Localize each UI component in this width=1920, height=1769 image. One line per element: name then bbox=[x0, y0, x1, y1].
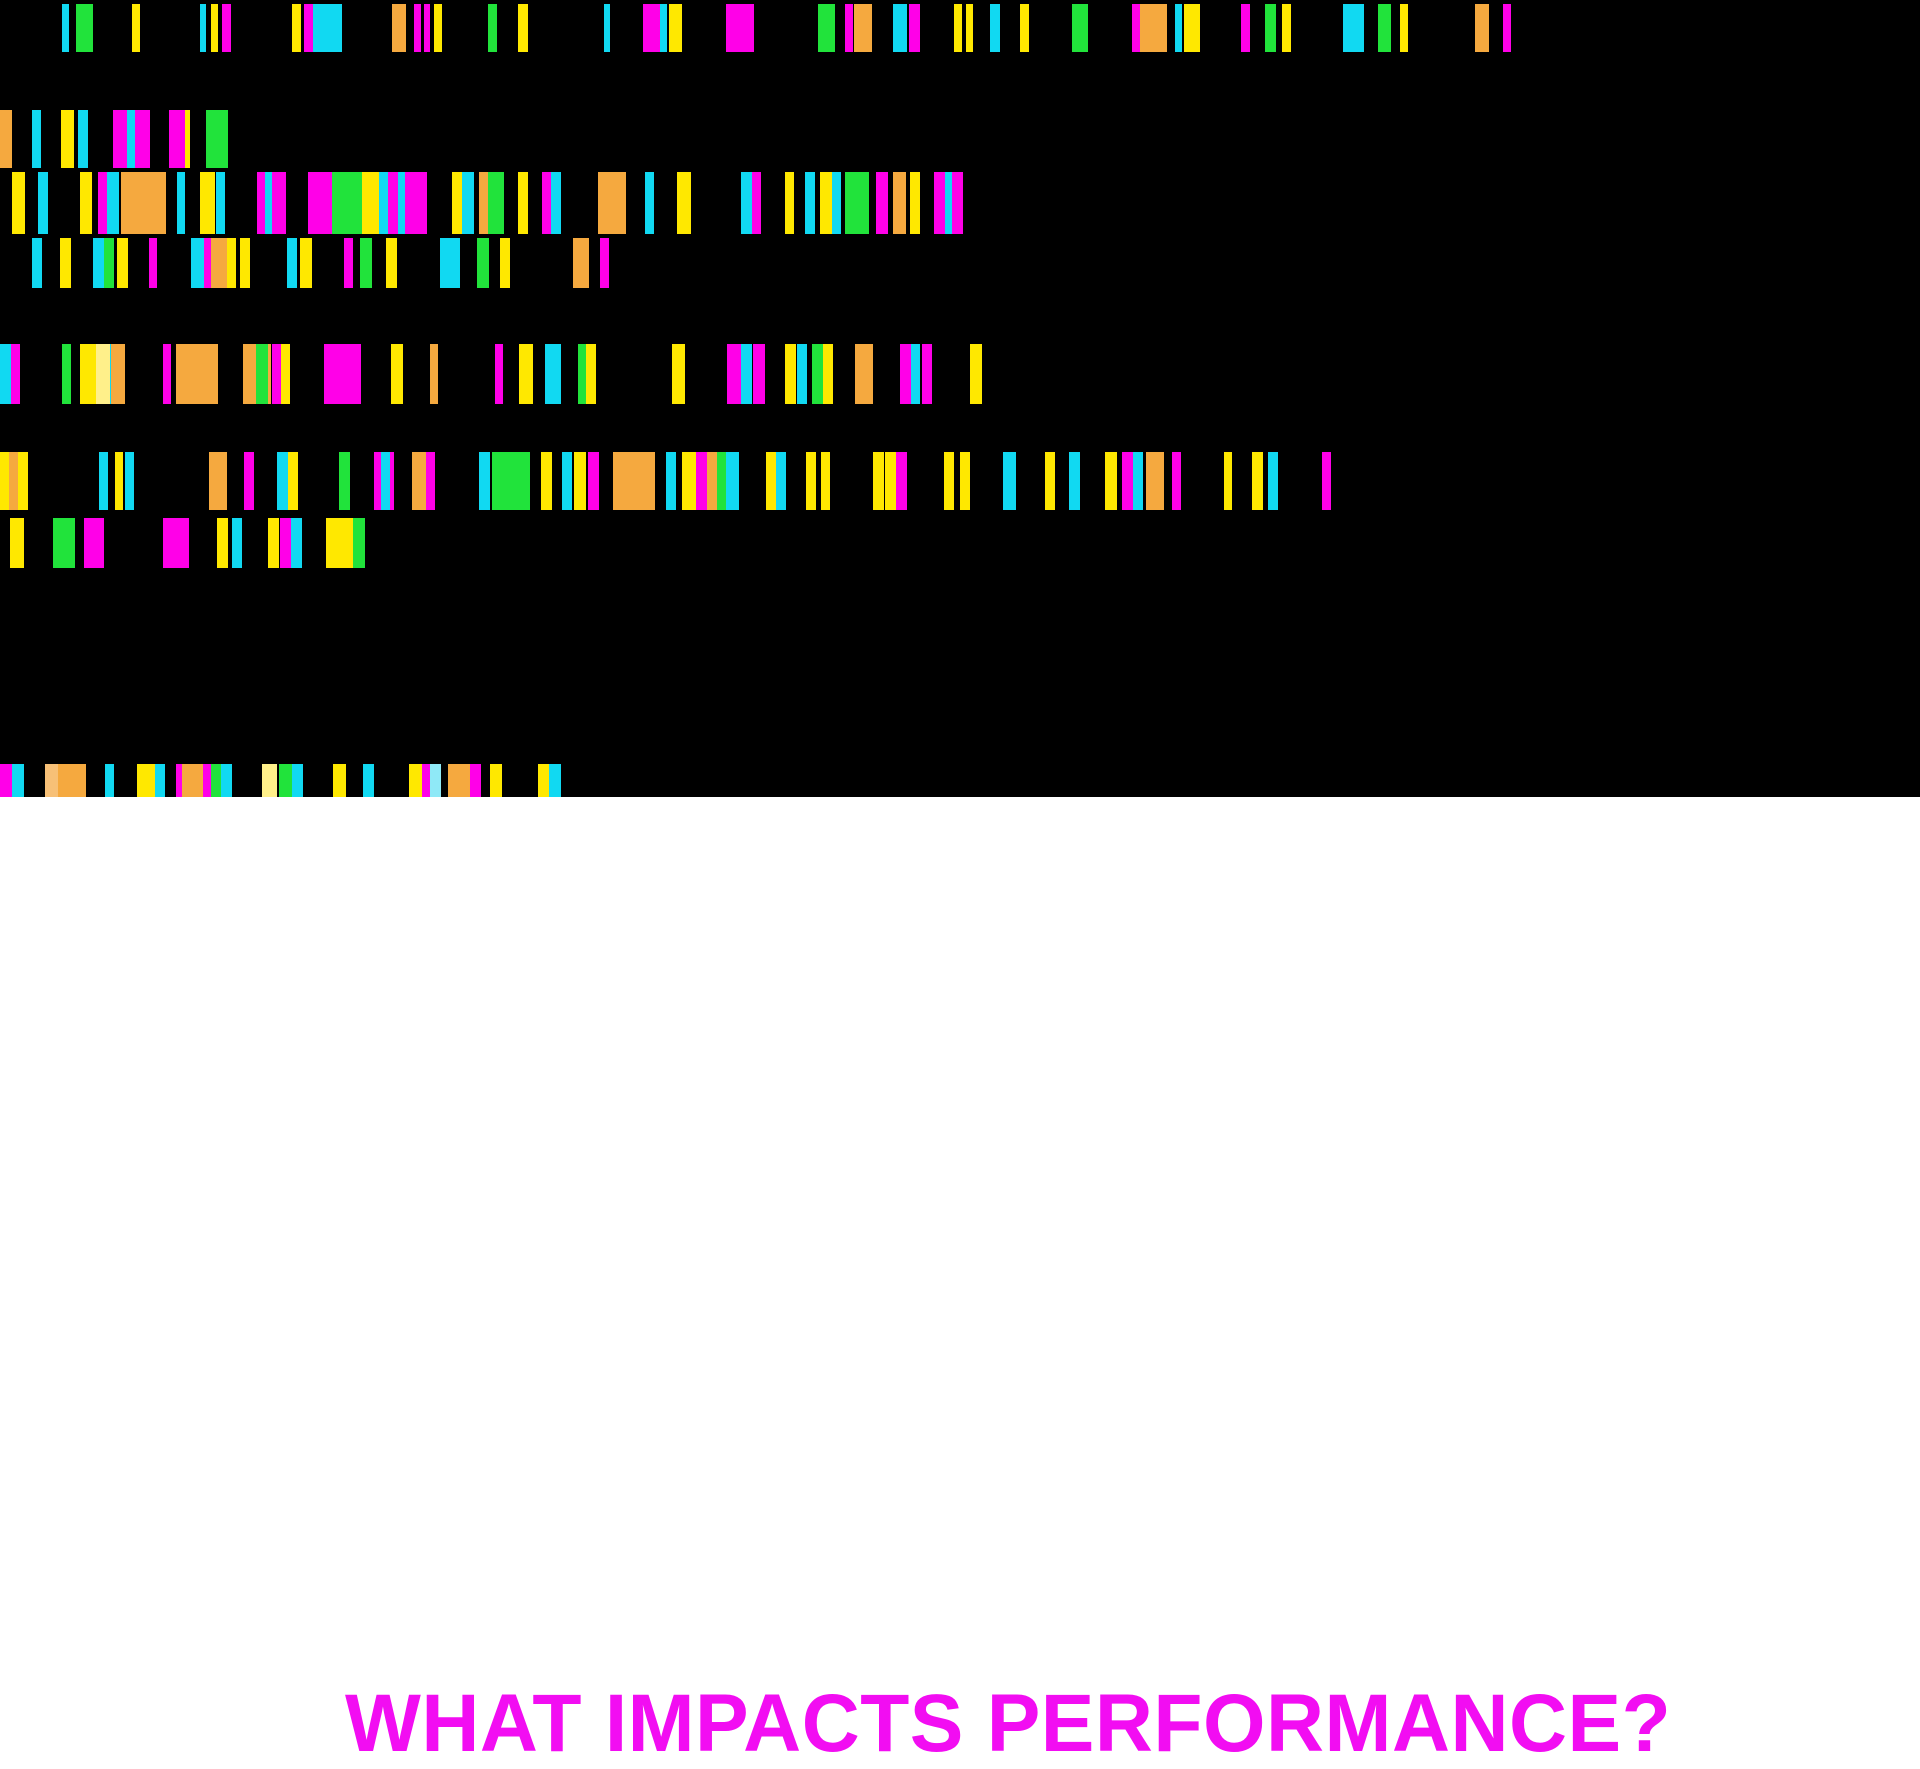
bar-segment bbox=[217, 518, 228, 568]
bar-segment bbox=[209, 452, 227, 510]
bar-segment bbox=[660, 4, 667, 52]
bar-segment bbox=[99, 452, 108, 510]
bar-segment bbox=[820, 172, 832, 234]
bar-segment bbox=[60, 238, 71, 288]
bar-segment bbox=[333, 764, 346, 797]
bar-segment bbox=[135, 110, 150, 168]
bar-segment bbox=[707, 452, 717, 510]
bar-segment bbox=[177, 172, 185, 234]
bar-segment bbox=[785, 344, 796, 404]
bar-segment bbox=[845, 4, 853, 52]
bar-segment bbox=[726, 4, 754, 52]
bar-segment bbox=[324, 344, 361, 404]
bar-segment bbox=[1322, 452, 1331, 510]
bar-segment bbox=[424, 4, 430, 52]
bar-segment bbox=[287, 238, 297, 288]
bar-segment bbox=[392, 4, 406, 52]
bar-segment bbox=[344, 238, 353, 288]
bar-segment bbox=[386, 238, 397, 288]
bar-segment bbox=[272, 172, 286, 234]
bar-segment bbox=[677, 172, 691, 234]
bar-segment bbox=[113, 110, 127, 168]
bar-segment bbox=[495, 344, 503, 404]
bar-segment bbox=[823, 344, 833, 404]
bar-segment bbox=[970, 344, 982, 404]
bar-row bbox=[0, 172, 1920, 234]
bar-segment bbox=[910, 172, 920, 234]
bar-segment bbox=[1133, 452, 1143, 510]
bar-row bbox=[0, 238, 1920, 288]
bar-segment bbox=[96, 344, 110, 404]
bar-segment bbox=[132, 4, 140, 52]
bar-segment bbox=[53, 518, 75, 568]
bar-segment bbox=[1146, 452, 1164, 510]
bar-segment bbox=[549, 764, 561, 797]
bar-segment bbox=[32, 110, 41, 168]
bar-segment bbox=[470, 764, 481, 797]
bar-segment bbox=[909, 4, 920, 52]
bar-segment bbox=[440, 238, 460, 288]
bar-segment bbox=[600, 238, 609, 288]
bar-segment bbox=[538, 764, 549, 797]
bar-segment bbox=[944, 452, 954, 510]
slide-root: WHAT IMPACTS PERFORMANCE? bbox=[0, 0, 1920, 1080]
bar-segment bbox=[353, 518, 365, 568]
bar-segment bbox=[300, 238, 312, 288]
bar-segment bbox=[222, 4, 231, 52]
bar-segment bbox=[873, 452, 884, 510]
bar-segment bbox=[381, 452, 390, 510]
bar-segment bbox=[896, 452, 907, 510]
bar-segment bbox=[855, 344, 873, 404]
bar-segment bbox=[845, 172, 869, 234]
bar-segment bbox=[288, 452, 298, 510]
bar-segment bbox=[545, 344, 561, 404]
bar-row bbox=[0, 110, 1920, 168]
bar-segment bbox=[115, 452, 123, 510]
bar-segment bbox=[574, 452, 586, 510]
bar-segment bbox=[666, 452, 676, 510]
bar-segment bbox=[405, 172, 427, 234]
bar-segment bbox=[38, 172, 48, 234]
bar-segment bbox=[221, 764, 232, 797]
bar-segment bbox=[885, 452, 896, 510]
bar-segment bbox=[12, 764, 24, 797]
bar-row bbox=[0, 764, 1920, 797]
bar-segment bbox=[1184, 4, 1200, 52]
bar-segment bbox=[805, 172, 815, 234]
bar-segment bbox=[104, 238, 114, 288]
bar-segment bbox=[244, 452, 254, 510]
bar-segment bbox=[966, 4, 973, 52]
bar-segment bbox=[211, 238, 227, 288]
bar-segment bbox=[232, 518, 242, 568]
bar-segment bbox=[332, 172, 364, 234]
bar-segment bbox=[117, 238, 128, 288]
bar-segment bbox=[211, 4, 218, 52]
bar-segment bbox=[492, 452, 530, 510]
bar-segment bbox=[240, 238, 250, 288]
page-title: WHAT IMPACTS PERFORMANCE? bbox=[345, 1681, 1671, 1767]
bar-segment bbox=[562, 452, 572, 510]
bar-segment bbox=[58, 764, 86, 797]
bar-segment bbox=[1252, 452, 1263, 510]
bar-segment bbox=[1241, 4, 1250, 52]
bar-segment bbox=[12, 172, 25, 234]
bar-segment bbox=[291, 518, 302, 568]
bar-segment bbox=[1140, 4, 1167, 52]
bar-segment bbox=[391, 344, 403, 404]
bar-segment bbox=[818, 4, 835, 52]
bar-segment bbox=[185, 110, 190, 168]
bar-segment bbox=[313, 4, 342, 52]
bar-segment bbox=[832, 172, 841, 234]
bar-segment bbox=[448, 764, 471, 797]
bar-segment bbox=[1475, 4, 1489, 52]
bar-segment bbox=[426, 452, 435, 510]
bar-segment bbox=[682, 452, 696, 510]
bar-segment bbox=[752, 172, 761, 234]
bar-segment bbox=[643, 4, 660, 52]
bar-segment bbox=[277, 452, 288, 510]
bar-segment bbox=[434, 4, 442, 52]
bar-segment bbox=[121, 172, 166, 234]
bar-segment bbox=[586, 344, 596, 404]
bar-row bbox=[0, 344, 1920, 404]
bar-segment bbox=[61, 110, 74, 168]
bar-segment bbox=[821, 452, 830, 510]
bar-segment bbox=[292, 764, 303, 797]
bar-segment bbox=[741, 344, 752, 404]
bar-segment bbox=[206, 110, 228, 168]
bar-segment bbox=[268, 518, 279, 568]
bar-segment bbox=[726, 452, 739, 510]
bar-segment bbox=[519, 344, 533, 404]
title-area: WHAT IMPACTS PERFORMANCE? bbox=[0, 797, 1920, 1080]
bar-segment bbox=[200, 4, 206, 52]
bar-segment bbox=[1072, 4, 1088, 52]
bar-segment bbox=[876, 172, 888, 234]
bar-segment bbox=[62, 344, 71, 404]
bar-segment bbox=[1400, 4, 1408, 52]
bar-segment bbox=[1265, 4, 1276, 52]
bar-segment bbox=[1020, 4, 1029, 52]
bar-segment bbox=[806, 452, 816, 510]
bar-segment bbox=[155, 764, 165, 797]
bar-segment bbox=[479, 452, 490, 510]
bar-segment bbox=[598, 172, 626, 234]
bar-segment bbox=[573, 238, 589, 288]
bar-segment bbox=[753, 344, 765, 404]
bar-segment bbox=[477, 238, 489, 288]
bar-segment bbox=[960, 452, 970, 510]
bar-segment bbox=[672, 344, 685, 404]
bar-segment bbox=[541, 452, 552, 510]
bar-segment bbox=[308, 172, 332, 234]
bar-segment bbox=[262, 764, 277, 797]
bar-segment bbox=[645, 172, 654, 234]
bar-segment bbox=[785, 172, 794, 234]
bar-segment bbox=[163, 344, 171, 404]
bar-segment bbox=[388, 172, 398, 234]
bar-segment bbox=[893, 4, 907, 52]
bar-spectrum-visualization bbox=[0, 0, 1920, 797]
bar-segment bbox=[84, 518, 104, 568]
bar-segment bbox=[1045, 452, 1055, 510]
bar-segment bbox=[107, 172, 119, 234]
bar-segment bbox=[105, 764, 114, 797]
bar-segment bbox=[588, 452, 599, 510]
bar-segment bbox=[911, 344, 920, 404]
bar-row bbox=[0, 4, 1920, 52]
bar-segment bbox=[272, 344, 281, 404]
bar-segment bbox=[127, 110, 135, 168]
bar-segment bbox=[18, 452, 28, 510]
bar-segment bbox=[518, 4, 528, 52]
bar-segment bbox=[488, 4, 497, 52]
bar-segment bbox=[0, 110, 12, 168]
bar-segment bbox=[430, 764, 441, 797]
bar-segment bbox=[200, 172, 215, 234]
bar-segment bbox=[990, 4, 1000, 52]
bar-segment bbox=[1003, 452, 1016, 510]
bar-segment bbox=[1268, 452, 1278, 510]
bar-segment bbox=[954, 4, 962, 52]
bar-segment bbox=[281, 344, 290, 404]
bar-segment bbox=[360, 238, 372, 288]
bar-segment bbox=[551, 172, 561, 234]
bar-segment bbox=[163, 518, 189, 568]
bar-segment bbox=[111, 344, 125, 404]
bar-row bbox=[0, 452, 1920, 510]
bar-segment bbox=[696, 452, 707, 510]
bar-segment bbox=[339, 452, 350, 510]
bar-segment bbox=[176, 344, 218, 404]
bar-segment bbox=[1282, 4, 1291, 52]
bar-segment bbox=[149, 238, 157, 288]
bar-segment bbox=[80, 172, 92, 234]
bar-segment bbox=[430, 344, 438, 404]
bar-segment bbox=[518, 172, 528, 234]
bar-segment bbox=[125, 452, 134, 510]
bar-segment bbox=[1224, 452, 1232, 510]
bar-segment bbox=[363, 764, 374, 797]
bar-segment bbox=[613, 452, 655, 510]
bar-segment bbox=[812, 344, 823, 404]
bar-segment bbox=[727, 344, 741, 404]
bar-segment bbox=[669, 4, 682, 52]
bar-segment bbox=[76, 4, 93, 52]
bar-segment bbox=[797, 344, 807, 404]
bar-segment bbox=[922, 344, 932, 404]
bar-segment bbox=[292, 4, 301, 52]
bar-segment bbox=[893, 172, 906, 234]
bar-segment bbox=[414, 4, 421, 52]
bar-segment bbox=[227, 238, 236, 288]
bar-segment bbox=[1343, 4, 1364, 52]
bar-segment bbox=[78, 110, 88, 168]
bar-segment bbox=[1175, 4, 1182, 52]
bar-segment bbox=[500, 238, 510, 288]
bar-segment bbox=[1378, 4, 1391, 52]
bar-segment bbox=[1172, 452, 1181, 510]
bar-segment bbox=[1105, 452, 1117, 510]
bar-segment bbox=[490, 764, 502, 797]
bar-segment bbox=[304, 4, 313, 52]
bar-segment bbox=[216, 172, 225, 234]
bar-segment bbox=[62, 4, 69, 52]
bar-segment bbox=[0, 764, 12, 797]
bar-segment bbox=[462, 172, 474, 234]
bar-segment bbox=[11, 344, 20, 404]
bar-segment bbox=[1503, 4, 1511, 52]
bar-segment bbox=[604, 4, 610, 52]
bar-segment bbox=[32, 238, 42, 288]
bar-segment bbox=[1069, 452, 1080, 510]
bar-segment bbox=[854, 4, 872, 52]
bar-segment bbox=[169, 110, 185, 168]
bar-segment bbox=[256, 344, 268, 404]
bar-segment bbox=[952, 172, 963, 234]
bar-segment bbox=[776, 452, 786, 510]
bar-row bbox=[0, 518, 1920, 568]
bar-segment bbox=[10, 518, 24, 568]
bar-segment bbox=[741, 172, 752, 234]
bar-segment bbox=[488, 172, 504, 234]
